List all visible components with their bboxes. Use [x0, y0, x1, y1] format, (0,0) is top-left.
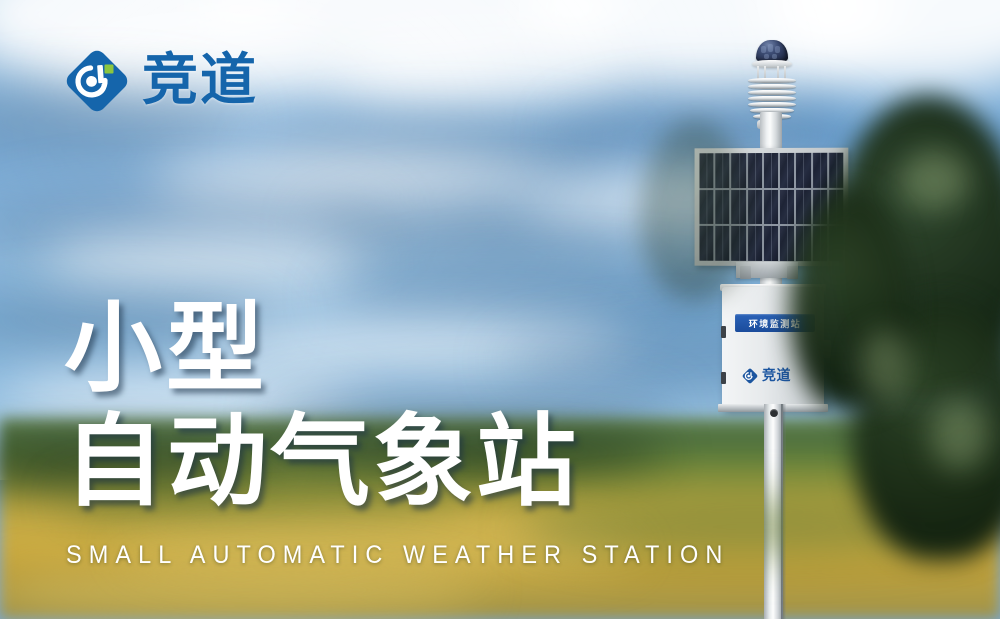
- headline-block: 小型 自动气象站: [64, 300, 579, 512]
- pole-bolt: [770, 409, 778, 417]
- jingdao-diamond-logo-icon: [64, 48, 130, 114]
- enclosure-hinge: [721, 372, 726, 384]
- brand-name: 竞道: [142, 53, 258, 109]
- enclosure-hinge: [721, 326, 726, 338]
- headline-line-1: 小型: [64, 300, 579, 398]
- brand-logo[interactable]: 竞道: [64, 48, 258, 114]
- jingdao-diamond-logo-icon-small: [742, 368, 758, 384]
- enclosure-brand: 竞道: [742, 368, 791, 384]
- green-accent-square: [105, 65, 114, 74]
- headline-line-2: 自动气象站: [64, 412, 579, 512]
- bracket-lug: [740, 266, 751, 279]
- enclosure-brand-name: 竞道: [762, 369, 791, 383]
- weather-station-banner: 竞道: [0, 0, 1000, 619]
- headline-subtitle: SMALL AUTOMATIC WEATHER STATION: [66, 541, 729, 570]
